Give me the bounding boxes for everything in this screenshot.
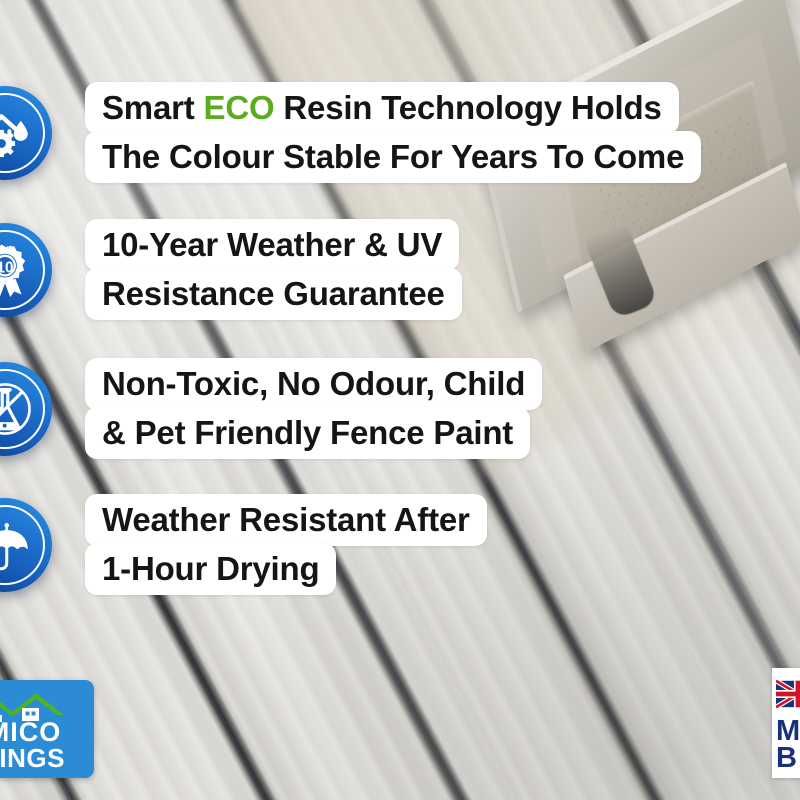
feature-icon-badge [0, 498, 52, 592]
callout-line: 1-Hour Drying [85, 543, 336, 595]
feature-icon-badge: 10 [0, 223, 52, 317]
callout-accent-text: ECO [204, 89, 275, 126]
feature-callout: Non-Toxic, No Odour, Child & Pet Friendl… [85, 358, 542, 459]
umbrella-droplet-icon [0, 517, 33, 573]
logo-line-2: TINGS [0, 746, 94, 771]
mib-line-2: B [776, 745, 800, 772]
mib-line-1: M [776, 718, 800, 745]
made-in-britain-badge: M B [772, 668, 800, 778]
callout-text: 10-Year Weather & UV [102, 226, 442, 263]
union-jack-flag-icon [776, 674, 800, 714]
callout-line: Resistance Guarantee [85, 268, 462, 320]
callout-text: 1-Hour Drying [102, 550, 319, 587]
callout-line: Smart ECO Resin Technology Holds [85, 82, 679, 134]
feature-item: Smart ECO Resin Technology Holds The Col… [0, 82, 701, 183]
award-ribbon-10-icon: 10 [0, 242, 33, 298]
feature-item: Non-Toxic, No Odour, Child & Pet Friendl… [0, 358, 542, 459]
callout-text: Resin Technology Holds [274, 89, 661, 126]
brand-logo: MICO TINGS [0, 680, 94, 778]
feature-item: 10 10-Year Weather & UV Resistance Guara… [0, 219, 462, 320]
callout-line: Weather Resistant After [85, 494, 487, 546]
callout-text: Smart [102, 89, 204, 126]
logo-wordmark: MICO TINGS [0, 720, 94, 771]
promo-graphic: Smart ECO Resin Technology Holds The Col… [0, 0, 800, 800]
feature-callout: Smart ECO Resin Technology Holds The Col… [85, 82, 701, 183]
no-chemicals-flask-icon [0, 381, 33, 437]
feature-list: Smart ECO Resin Technology Holds The Col… [0, 0, 800, 800]
callout-line: 10-Year Weather & UV [85, 219, 459, 271]
mib-wordmark: M B [776, 718, 800, 771]
badge-number-text: 10 [0, 259, 14, 276]
callout-line: & Pet Friendly Fence Paint [85, 407, 530, 459]
feature-callout: Weather Resistant After 1-Hour Drying [85, 494, 487, 595]
callout-text: The Colour Stable For Years To Come [102, 138, 684, 175]
callout-text: Weather Resistant After [102, 501, 470, 538]
callout-text: Non-Toxic, No Odour, Child [102, 365, 525, 402]
feature-callout: 10-Year Weather & UV Resistance Guarante… [85, 219, 462, 320]
callout-line: Non-Toxic, No Odour, Child [85, 358, 542, 410]
feature-item: Weather Resistant After 1-Hour Drying [0, 494, 487, 595]
callout-text: Resistance Guarantee [102, 275, 445, 312]
callout-text: & Pet Friendly Fence Paint [102, 414, 513, 451]
callout-line: The Colour Stable For Years To Come [85, 131, 701, 183]
feature-icon-badge [0, 362, 52, 456]
feature-icon-badge [0, 86, 52, 180]
house-droplet-gear-icon [0, 105, 33, 161]
